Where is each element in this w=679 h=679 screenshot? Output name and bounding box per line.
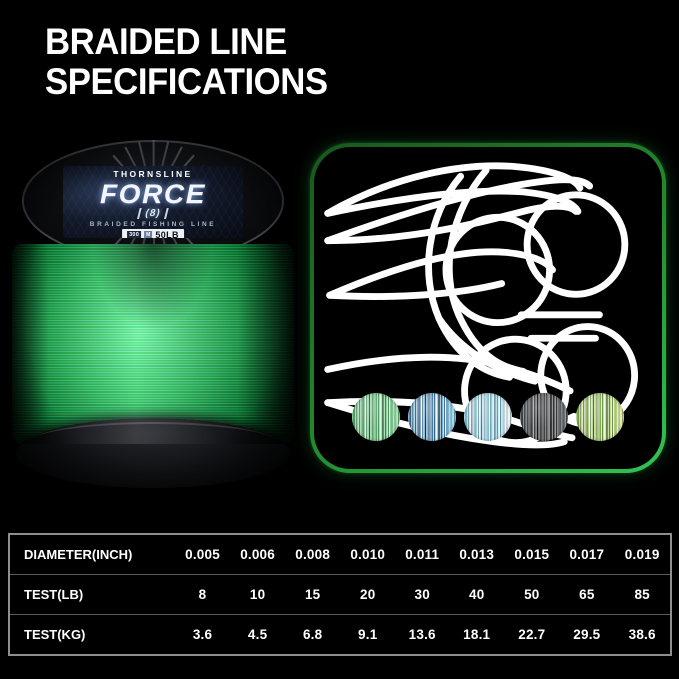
label-spec-unit: M (144, 231, 152, 238)
table-cell: 29.5 (559, 615, 614, 656)
table-cell: 85 (614, 575, 671, 615)
table-cell: 65 (559, 575, 614, 615)
table-cell: 4.5 (230, 615, 285, 656)
label-brand: THORNSLINE (63, 169, 243, 179)
spool-line-shading (12, 244, 294, 444)
table-row-label: DIAMETER(INCH) (9, 534, 175, 575)
table-cell: 18.1 (449, 615, 504, 656)
label-strand-badge: (8) (137, 208, 169, 219)
color-swatch-black[interactable] (520, 393, 568, 441)
spool-label: THORNSLINE FORCE (8) BRAIDED FISHING LIN… (63, 166, 243, 238)
table-cell: 50 (504, 575, 559, 615)
table-cell: 6.8 (285, 615, 340, 656)
table-cell: 15 (285, 575, 340, 615)
color-swatch-row (310, 392, 666, 442)
label-spec-badge: 300 M 50LB (122, 229, 184, 238)
table-cell: 0.006 (230, 534, 285, 575)
table-cell: 0.015 (504, 534, 559, 575)
table-cell: 38.6 (614, 615, 671, 656)
table-cell: 0.019 (614, 534, 671, 575)
page-title: BRAIDED LINE SPECIFICATIONS (45, 22, 645, 102)
label-subtitle: BRAIDED FISHING LINE (63, 221, 243, 228)
table-cell: 13.6 (395, 615, 449, 656)
table-cell: 0.010 (340, 534, 395, 575)
table-row: TEST(KG)3.64.56.89.113.618.122.729.538.6 (9, 615, 671, 656)
label-spec-strength: 50LB (155, 230, 179, 238)
table-cell: 0.008 (285, 534, 340, 575)
table-row: TEST(LB)81015203040506585 (9, 575, 671, 615)
page-title-line-1: BRAIDED LINE (45, 22, 609, 62)
table-cell: 20 (340, 575, 395, 615)
color-swatch-light-blue[interactable] (464, 393, 512, 441)
table-cell: 40 (449, 575, 504, 615)
table-cell: 10 (230, 575, 285, 615)
table-cell: 8 (175, 575, 230, 615)
product-spool-image: THORNSLINE FORCE (8) BRAIDED FISHING LIN… (8, 140, 298, 488)
table-cell: 30 (395, 575, 449, 615)
table-row-label: TEST(LB) (9, 575, 175, 615)
label-model: FORCE (63, 179, 243, 210)
label-spec-metric: 300 (127, 231, 141, 238)
page-title-line-2: SPECIFICATIONS (45, 62, 609, 102)
table-row-label: TEST(KG) (9, 615, 175, 656)
table-row: DIAMETER(INCH)0.0050.0060.0080.0100.0110… (9, 534, 671, 575)
color-swatch-blue[interactable] (408, 393, 456, 441)
table-cell: 0.011 (395, 534, 449, 575)
table-cell: 22.7 (504, 615, 559, 656)
table-cell: 0.017 (559, 534, 614, 575)
table-cell: 0.005 (175, 534, 230, 575)
spool-line-winding (12, 244, 294, 444)
table-cell: 3.6 (175, 615, 230, 656)
table-cell: 0.013 (449, 534, 504, 575)
specifications-table: DIAMETER(INCH)0.0050.0060.0080.0100.0110… (8, 533, 672, 656)
table-cell: 9.1 (340, 615, 395, 656)
color-swatch-green[interactable] (352, 393, 400, 441)
color-swatch-yellow-green[interactable] (576, 393, 624, 441)
